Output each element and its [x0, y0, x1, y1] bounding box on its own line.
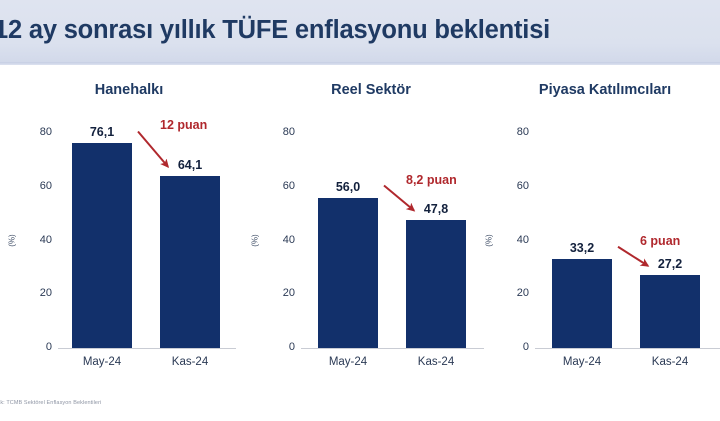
y-axis-tick-label: 60 [495, 181, 529, 192]
bar [640, 275, 700, 348]
delta-annotation-label: 12 puan [160, 118, 207, 132]
x-axis-tick-label: May-24 [547, 356, 617, 368]
y-axis-tick-label: 20 [261, 288, 295, 299]
bar-column [318, 78, 378, 348]
bar [406, 220, 466, 348]
y-axis-tick-label: 80 [261, 127, 295, 138]
y-axis-tick-label: 80 [495, 127, 529, 138]
x-axis-baseline [535, 348, 720, 349]
y-axis-tick-label: 40 [495, 235, 529, 246]
y-axis-tick-label: 20 [495, 288, 529, 299]
bar-column [552, 78, 612, 348]
x-axis-baseline [301, 348, 484, 349]
y-axis-tick-label: 0 [18, 342, 52, 353]
x-axis-tick-label: Kas-24 [401, 356, 471, 368]
delta-annotation-label: 8,2 puan [406, 173, 457, 187]
y-axis-tick-label: 0 [261, 342, 295, 353]
delta-annotation-label: 6 puan [640, 234, 680, 248]
bar-value-label: 33,2 [547, 241, 617, 255]
header-separator-rule [0, 62, 720, 65]
bar [160, 176, 220, 348]
chart-panel-hanehalki: Hanehalkı(%)02040608076,1May-2464,1Kas-2… [0, 78, 240, 378]
y-axis-tick-label: 20 [18, 288, 52, 299]
page-title: 12 ay sonrası yıllık TÜFE enflasyonu bek… [0, 16, 694, 45]
x-axis-tick-label: May-24 [313, 356, 383, 368]
y-axis-tick-label: 40 [18, 235, 52, 246]
x-axis-tick-label: Kas-24 [635, 356, 705, 368]
bar-value-label: 64,1 [155, 158, 225, 172]
x-axis-tick-label: May-24 [67, 356, 137, 368]
y-axis-tick-label: 40 [261, 235, 295, 246]
y-axis-unit-label: (%) [251, 234, 260, 246]
y-axis-unit-label: (%) [485, 234, 494, 246]
chart-panel-piyasa-katilimcilari: Piyasa Katılımcıları(%)02040608033,2May-… [482, 78, 720, 378]
bar-value-label: 56,0 [313, 180, 383, 194]
y-axis-tick-label: 80 [18, 127, 52, 138]
y-axis-unit-label: (%) [8, 234, 17, 246]
bar-value-label: 27,2 [635, 257, 705, 271]
bar [72, 143, 132, 348]
bar-value-label: 76,1 [67, 125, 137, 139]
bar [552, 259, 612, 348]
y-axis-tick-label: 0 [495, 342, 529, 353]
bar-column [72, 78, 132, 348]
x-axis-baseline [58, 348, 236, 349]
x-axis-tick-label: Kas-24 [155, 356, 225, 368]
bar [318, 198, 378, 349]
bar-value-label: 47,8 [401, 202, 471, 216]
chart-panel-reel-sektor: Reel Sektör(%)02040608056,0May-2447,8Kas… [248, 78, 488, 378]
y-axis-tick-label: 60 [18, 181, 52, 192]
y-axis-tick-label: 60 [261, 181, 295, 192]
bar-column [640, 78, 700, 348]
source-note: nak: TCMB Sektörel Enflasyon Beklentiler… [0, 400, 101, 406]
